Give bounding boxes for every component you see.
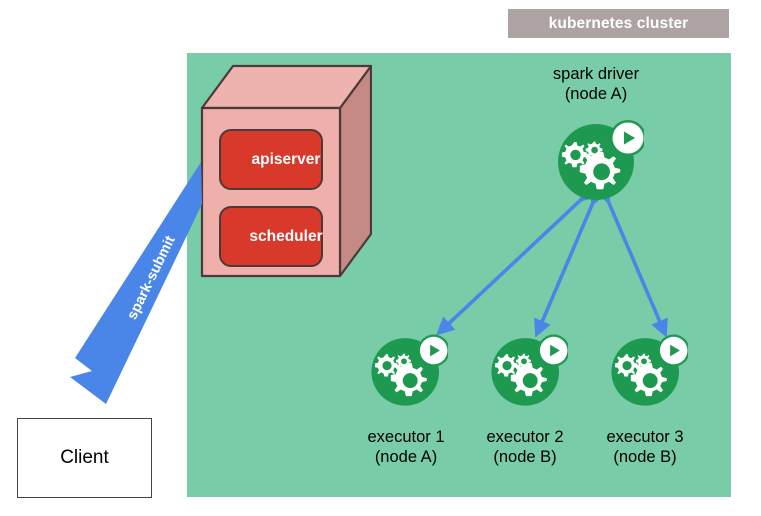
scheduler-label: scheduler <box>200 228 372 246</box>
client-label: Client <box>60 447 109 469</box>
executor-3-label-line2: (node B) <box>575 447 715 467</box>
client-box[interactable]: Client <box>17 418 152 498</box>
medium-gear-icon <box>375 354 397 376</box>
spark-submit-arrow-shape <box>58 160 208 405</box>
medium-gear-icon <box>615 354 637 376</box>
spark-driver-node[interactable] <box>552 116 644 206</box>
executor-3-caption: executor 3 (node B) <box>575 427 715 467</box>
control-plane-cube: apiserver scheduler <box>200 62 372 280</box>
executor-3-label-line1: executor 3 <box>575 427 715 447</box>
cube-top-face <box>202 66 371 108</box>
spark-driver-caption: spark driver (node A) <box>511 64 681 104</box>
executor-1-node[interactable] <box>366 331 448 411</box>
cube-shape <box>200 62 372 280</box>
gears-play-icon <box>486 331 568 411</box>
cluster-banner-label: kubernetes cluster <box>549 15 689 33</box>
executor-2-node[interactable] <box>486 331 568 411</box>
spark-driver-label-line1: spark driver <box>511 64 681 84</box>
executor-2-caption: executor 2 (node B) <box>455 427 595 467</box>
kubernetes-cluster-banner: kubernetes cluster <box>508 9 729 38</box>
gears-play-icon <box>552 116 644 206</box>
executor-3-node[interactable] <box>606 331 688 411</box>
executor-2-label-line2: (node B) <box>455 447 595 467</box>
gears-play-icon <box>606 331 688 411</box>
spark-submit-arrow-body <box>70 162 202 404</box>
small-gear-icon <box>516 354 531 369</box>
medium-gear-icon <box>495 354 517 376</box>
diagram-canvas: kubernetes cluster apiserver scheduler s… <box>0 0 761 516</box>
spark-driver-label-line2: (node A) <box>511 84 681 104</box>
small-gear-icon <box>636 354 651 369</box>
small-gear-icon <box>586 142 603 159</box>
executor-2-label-line1: executor 2 <box>455 427 595 447</box>
small-gear-icon <box>396 354 411 369</box>
spark-submit-arrow[interactable]: spark-submit <box>58 160 208 405</box>
apiserver-label: apiserver <box>200 151 372 169</box>
medium-gear-icon <box>562 142 587 167</box>
gears-play-icon <box>366 331 448 411</box>
